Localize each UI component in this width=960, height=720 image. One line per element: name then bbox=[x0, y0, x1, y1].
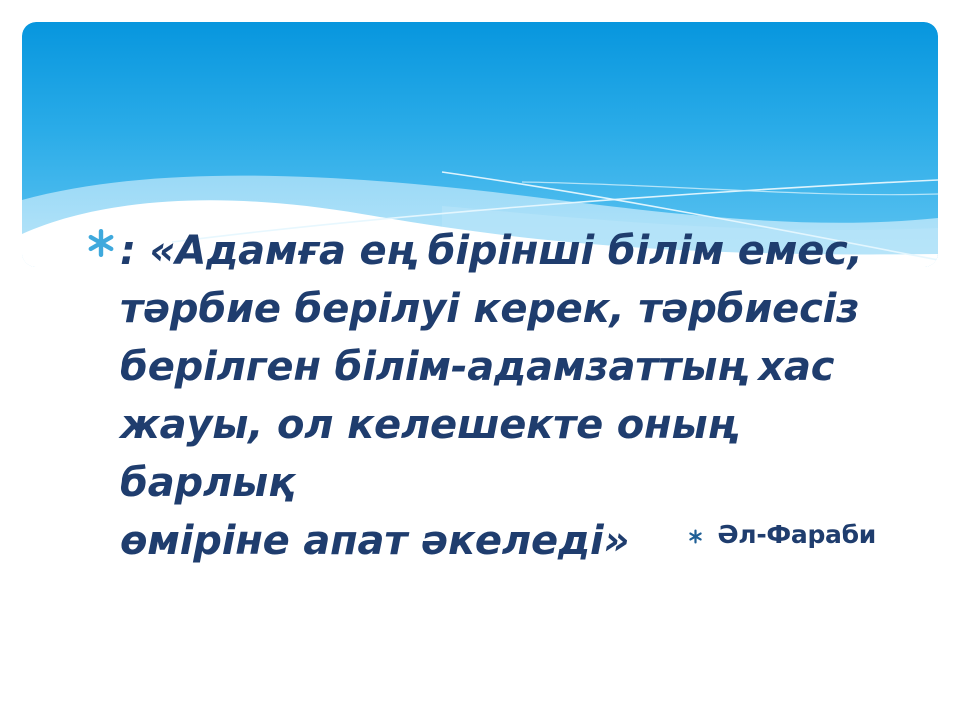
quote-row: : «Адамға ең бірінші білім емес, тәрбие … bbox=[86, 222, 886, 570]
quote-block: : «Адамға ең бірінші білім емес, тәрбие … bbox=[86, 222, 886, 570]
attribution-text: Әл-Фараби bbox=[717, 520, 876, 550]
asterisk-star-icon bbox=[86, 226, 116, 270]
attribution-row: Әл-Фараби bbox=[86, 520, 876, 550]
asterisk-star-glyph-small bbox=[688, 529, 703, 544]
slide-canvas: : «Адамға ең бірінші білім емес, тәрбие … bbox=[0, 0, 960, 720]
asterisk-star-icon-small bbox=[688, 529, 703, 544]
quote-text: : «Адамға ең бірінші білім емес, тәрбие … bbox=[120, 222, 886, 570]
asterisk-star-glyph bbox=[86, 226, 116, 260]
